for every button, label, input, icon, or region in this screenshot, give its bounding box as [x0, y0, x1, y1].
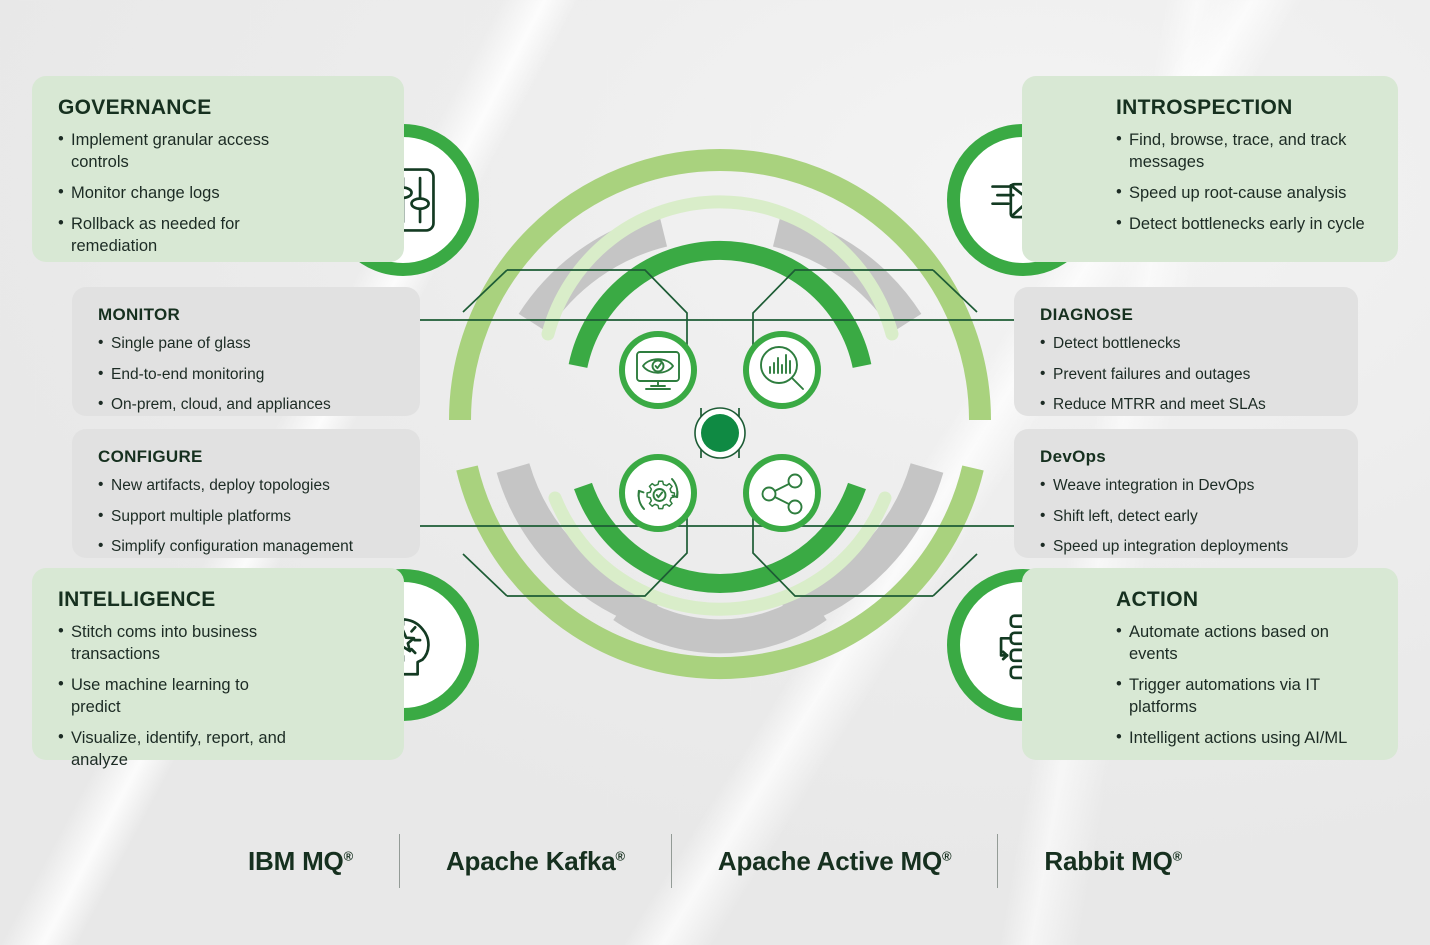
panel-bullets-monitor: Single pane of glass End-to-end monitori…: [98, 334, 394, 416]
panel-bullets-diagnose: Detect bottlenecks Prevent failures and …: [1040, 334, 1332, 416]
registered-mark: ®: [616, 848, 625, 863]
list-item: Automate actions based on events: [1116, 622, 1372, 666]
panel-bullets-configure: New artifacts, deploy topologies Support…: [98, 476, 394, 558]
list-item: Monitor change logs: [58, 183, 298, 205]
list-item: Simplify configuration management: [98, 537, 394, 558]
brand-apache-active-mq: Apache Active MQ®: [672, 846, 998, 877]
panel-governance: GOVERNANCE Implement granular access con…: [32, 76, 404, 262]
registered-mark: ®: [1173, 848, 1182, 863]
brand-label: IBM MQ: [248, 846, 344, 876]
brand-divider: [997, 834, 998, 888]
panel-title-action: ACTION: [1116, 588, 1372, 612]
brand-label: Apache Kafka: [446, 846, 616, 876]
brand-apache-kafka: Apache Kafka®: [400, 846, 671, 877]
brand-divider: [671, 834, 672, 888]
brand-label: Rabbit MQ: [1044, 846, 1172, 876]
list-item: Stitch coms into business transactions: [58, 622, 288, 666]
panel-devops: DevOps Weave integration in DevOps Shift…: [1014, 429, 1358, 558]
hub-icon-share-network: [746, 457, 818, 529]
list-item: Find, browse, trace, and track messages: [1116, 130, 1372, 174]
list-item: Reduce MTRR and meet SLAs: [1040, 395, 1332, 416]
brand-divider: [399, 834, 400, 888]
panel-title-diagnose: DIAGNOSE: [1040, 305, 1332, 325]
panel-bullets-introspection: Find, browse, trace, and track messages …: [1116, 130, 1372, 236]
panel-title-configure: CONFIGURE: [98, 447, 394, 467]
list-item: Prevent failures and outages: [1040, 365, 1332, 386]
list-item: End-to-end monitoring: [98, 365, 394, 386]
brand-ibm-mq: IBM MQ®: [202, 846, 399, 877]
hub-icon-gear-refresh: [622, 457, 694, 529]
panel-intelligence: INTELLIGENCE Stitch coms into business t…: [32, 568, 404, 760]
list-item: Implement granular access controls: [58, 130, 298, 174]
panel-title-devops: DevOps: [1040, 447, 1332, 467]
list-item: Detect bottlenecks early in cycle: [1116, 214, 1372, 236]
brand-label: Apache Active MQ: [718, 846, 942, 876]
list-item: Trigger automations via IT platforms: [1116, 675, 1372, 719]
registered-mark: ®: [942, 848, 951, 863]
panel-title-governance: GOVERNANCE: [58, 96, 378, 120]
brand-rabbit-mq: Rabbit MQ®: [998, 846, 1228, 877]
panel-diagnose: DIAGNOSE Detect bottlenecks Prevent fail…: [1014, 287, 1358, 416]
list-item: Shift left, detect early: [1040, 507, 1332, 528]
registered-mark: ®: [344, 848, 353, 863]
center-hub-dot: [695, 408, 745, 458]
list-item: Single pane of glass: [98, 334, 394, 355]
panel-title-monitor: MONITOR: [98, 305, 394, 325]
list-item: Use machine learning to predict: [58, 675, 288, 719]
list-item: Weave integration in DevOps: [1040, 476, 1332, 497]
panel-configure: CONFIGURE New artifacts, deploy topologi…: [72, 429, 420, 558]
list-item: Rollback as needed for remediation: [58, 214, 298, 258]
list-item: Intelligent actions using AI/ML: [1116, 728, 1372, 750]
panel-action: ACTION Automate actions based on events …: [1022, 568, 1398, 760]
panel-title-introspection: INTROSPECTION: [1116, 96, 1372, 120]
panel-bullets-governance: Implement granular access controls Monit…: [58, 130, 378, 258]
panel-monitor: MONITOR Single pane of glass End-to-end …: [72, 287, 420, 416]
list-item: Support multiple platforms: [98, 507, 394, 528]
list-item: New artifacts, deploy topologies: [98, 476, 394, 497]
panel-bullets-intelligence: Stitch coms into business transactions U…: [58, 622, 378, 772]
panel-title-intelligence: INTELLIGENCE: [58, 588, 378, 612]
panel-bullets-action: Automate actions based on events Trigger…: [1116, 622, 1372, 750]
list-item: Speed up integration deployments: [1040, 537, 1332, 558]
list-item: Speed up root-cause analysis: [1116, 183, 1372, 205]
central-hub-graphic: [415, 108, 1025, 733]
list-item: Visualize, identify, report, and analyze: [58, 728, 288, 772]
hub-icon-monitor-eye: [622, 334, 694, 406]
list-item: Detect bottlenecks: [1040, 334, 1332, 355]
brand-row: IBM MQ® Apache Kafka® Apache Active MQ® …: [0, 818, 1430, 904]
hub-icon-magnifier-chart: [746, 334, 818, 406]
panel-introspection: INTROSPECTION Find, browse, trace, and t…: [1022, 76, 1398, 262]
list-item: On-prem, cloud, and appliances: [98, 395, 394, 416]
panel-bullets-devops: Weave integration in DevOps Shift left, …: [1040, 476, 1332, 558]
